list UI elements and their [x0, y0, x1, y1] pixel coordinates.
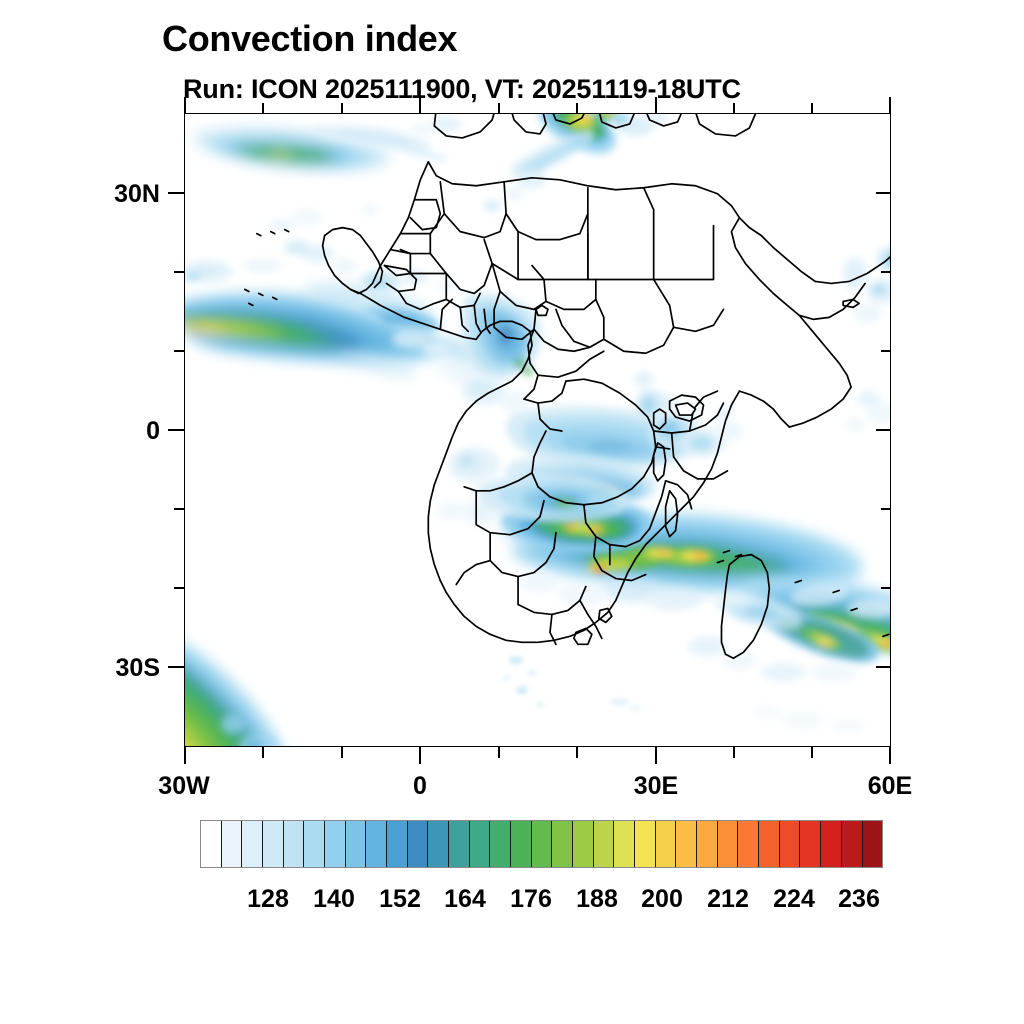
- xtick-minor-50e: [811, 747, 813, 758]
- colorbar-cell: [263, 821, 284, 867]
- ytick-right-30s: [876, 666, 891, 668]
- xtick-top-minor-20w: [262, 103, 264, 113]
- colorbar-cell: [222, 821, 243, 867]
- ytick-minor-20n: [174, 271, 185, 273]
- colorbar-label-128: 128: [247, 885, 289, 914]
- ytick-label-30n: 30N: [50, 180, 160, 209]
- ytick-major-30s: [168, 666, 185, 668]
- colorbar-cell: [759, 821, 780, 867]
- colorbar-cell: [284, 821, 305, 867]
- colorbar-cell: [470, 821, 491, 867]
- colorbar-cell: [532, 821, 553, 867]
- ytick-minor-10n: [174, 350, 185, 352]
- colorbar-cell: [325, 821, 346, 867]
- colorbar-cell: [346, 821, 367, 867]
- colorbar-cell: [635, 821, 656, 867]
- ytick-right-30n: [876, 192, 891, 194]
- figure-root: Convection index Run: ICON 2025111900, V…: [0, 0, 1024, 1024]
- xtick-minor-20w: [262, 747, 264, 758]
- ytick-right-minor-20s: [881, 587, 891, 589]
- xtick-minor-10w: [341, 747, 343, 758]
- xtick-minor-20e: [576, 747, 578, 758]
- xtick-minor-40e: [733, 747, 735, 758]
- ytick-right-minor-20n: [881, 271, 891, 273]
- colorbar-cell: [304, 821, 325, 867]
- colorbar-label-188: 188: [576, 885, 618, 914]
- ytick-minor-20s: [174, 587, 185, 589]
- colorbar-cell: [594, 821, 615, 867]
- colorbar-cell: [552, 821, 573, 867]
- ytick-minor-10s: [174, 508, 185, 510]
- xtick-label-30w: 30W: [124, 772, 244, 801]
- colorbar-label-200: 200: [641, 885, 683, 914]
- colorbar[interactable]: [200, 820, 883, 868]
- colorbar-cell: [428, 821, 449, 867]
- colorbar-cell: [614, 821, 635, 867]
- colorbar-cell: [201, 821, 222, 867]
- colorbar-cell: [863, 821, 883, 867]
- colorbar-cell: [511, 821, 532, 867]
- xtick-top-minor-10w: [341, 103, 343, 113]
- colorbar-cell: [821, 821, 842, 867]
- colorbar-cell: [573, 821, 594, 867]
- xtick-major-30e: [655, 747, 657, 764]
- colorbar-cell: [842, 821, 863, 867]
- xtick-major-0: [419, 747, 421, 764]
- colorbar-cell: [366, 821, 387, 867]
- colorbar-label-176: 176: [510, 885, 552, 914]
- colorbar-cell: [800, 821, 821, 867]
- colorbar-cell: [387, 821, 408, 867]
- xtick-label-60e: 60E: [830, 772, 950, 801]
- colorbar-cell: [242, 821, 263, 867]
- colorbar-cell: [656, 821, 677, 867]
- colorbar-cell: [780, 821, 801, 867]
- colorbar-label-152: 152: [379, 885, 421, 914]
- colorbar-label-224: 224: [773, 885, 815, 914]
- ytick-label-30s: 30S: [50, 654, 160, 683]
- colorbar-cell: [738, 821, 759, 867]
- xtick-top-0: [419, 97, 421, 113]
- xtick-label-0: 0: [360, 772, 480, 801]
- ytick-right-minor-10n: [881, 350, 891, 352]
- xtick-top-minor-40e: [733, 103, 735, 113]
- colorbar-label-164: 164: [444, 885, 486, 914]
- colorbar-cell: [718, 821, 739, 867]
- xtick-major-30w: [184, 747, 186, 764]
- ytick-major-0: [168, 429, 185, 431]
- xtick-top-30e: [655, 97, 657, 113]
- colorbar-cell: [408, 821, 429, 867]
- xtick-top-minor-20e: [576, 103, 578, 113]
- colorbar-cell: [676, 821, 697, 867]
- ytick-label-0: 0: [50, 417, 160, 446]
- page-title: Convection index: [162, 18, 457, 60]
- xtick-top-30w: [184, 97, 186, 113]
- colorbar-label-140: 140: [313, 885, 355, 914]
- colorbar-label-212: 212: [707, 885, 749, 914]
- xtick-major-60e: [889, 747, 891, 764]
- xtick-top-minor-50e: [811, 103, 813, 113]
- xtick-label-30e: 30E: [596, 772, 716, 801]
- colorbar-cell: [697, 821, 718, 867]
- map-plot-area: [184, 113, 891, 747]
- xtick-top-60e: [889, 97, 891, 113]
- colorbar-cell: [490, 821, 511, 867]
- xtick-top-minor-10e: [498, 103, 500, 113]
- colorbar-label-236: 236: [838, 885, 880, 914]
- xtick-minor-10e: [498, 747, 500, 758]
- ytick-right-0: [876, 429, 891, 431]
- colorbar-cell: [449, 821, 470, 867]
- coastline-and-borders-overlay: [185, 114, 890, 746]
- ytick-major-30n: [168, 192, 185, 194]
- ytick-right-minor-10s: [881, 508, 891, 510]
